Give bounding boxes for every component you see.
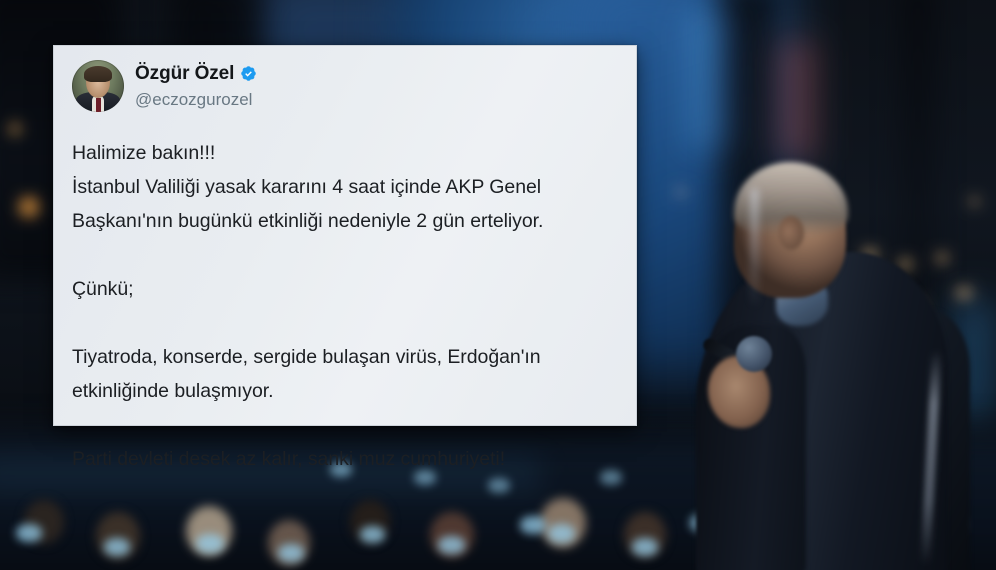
crowd-face-mask — [632, 538, 658, 556]
bokeh-light — [18, 196, 40, 218]
tweet-text: Halimize bakın!!! İstanbul Valiliği yasa… — [72, 136, 618, 476]
microphone-icon — [736, 336, 772, 372]
speaker-ear — [778, 216, 804, 250]
speaker-figure — [690, 160, 990, 570]
author-display-name[interactable]: Özgür Özel — [135, 62, 234, 85]
tweet-header: Özgür Özel @eczozgurozel — [72, 60, 618, 124]
stage-banner — [776, 40, 816, 160]
author-handle[interactable]: @eczozgurozel — [135, 88, 257, 111]
crowd-face-mask — [488, 478, 510, 493]
stage-banner — [686, 10, 732, 150]
avatar-hair — [84, 66, 112, 82]
tweet-card[interactable]: Özgür Özel @eczozgurozel Halimize bakın!… — [53, 45, 637, 426]
crowd-face-mask — [16, 524, 42, 542]
crowd-face-mask — [520, 516, 546, 534]
author-block: Özgür Özel @eczozgurozel — [135, 60, 257, 111]
screenshot-stage: Özgür Özel @eczozgurozel Halimize bakın!… — [0, 0, 996, 570]
avatar[interactable] — [72, 60, 124, 112]
crowd-face-mask — [196, 534, 224, 553]
avatar-tie — [96, 98, 101, 112]
crowd-face-mask — [360, 526, 385, 543]
crowd-face-mask — [438, 536, 465, 554]
verified-badge-icon — [240, 65, 257, 82]
crowd-face-mask — [104, 538, 130, 556]
author-name-row: Özgür Özel — [135, 62, 257, 85]
bokeh-light — [674, 186, 688, 198]
crowd-face-mask — [278, 544, 304, 562]
speaker-rim-light — [750, 188, 759, 308]
crowd-face-mask — [548, 524, 575, 543]
bokeh-light — [8, 122, 22, 136]
